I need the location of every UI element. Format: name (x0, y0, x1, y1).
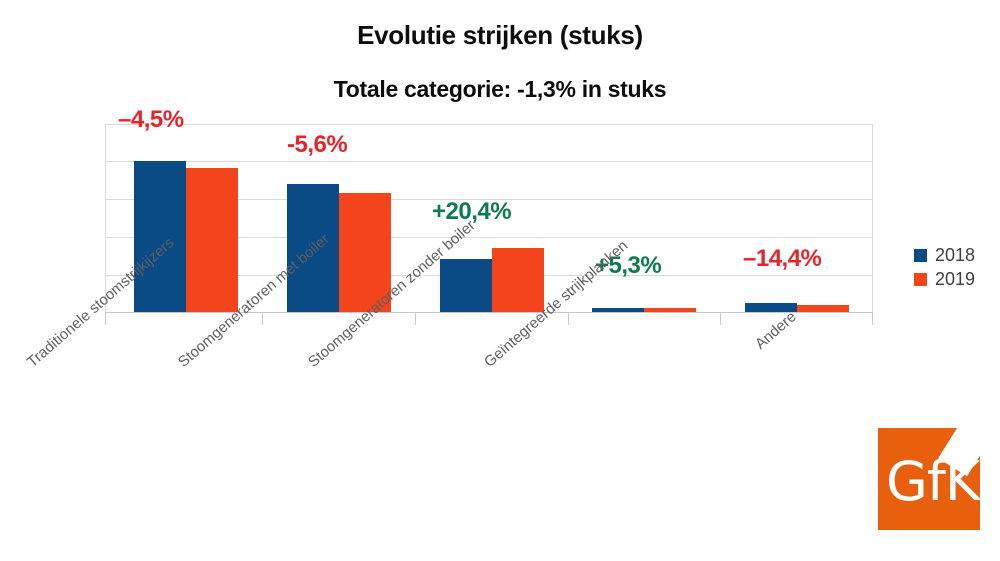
bar-2019[interactable] (644, 308, 696, 312)
legend-item-2018[interactable]: 2018 (914, 243, 975, 267)
legend-label-2018: 2018 (935, 245, 975, 266)
value-label-andere: –14,4% (743, 245, 821, 273)
x-axis-tick (262, 312, 263, 325)
legend-swatch-icon (914, 273, 927, 286)
x-axis-tick (872, 312, 873, 325)
legend: 2018 2019 (914, 243, 975, 291)
page-title: Evolutie strijken (stuks) (0, 20, 1000, 51)
x-axis-tick (720, 312, 721, 325)
x-axis-tick (568, 312, 569, 325)
bar-2019[interactable] (186, 168, 238, 312)
bar-2018[interactable] (440, 259, 492, 312)
legend-swatch-icon (914, 249, 927, 262)
bar-2018[interactable] (592, 308, 644, 312)
legend-item-2019[interactable]: 2019 (914, 267, 975, 291)
logo-text: GfK (886, 450, 979, 513)
bar-2018[interactable] (134, 161, 186, 312)
chart-subtitle: Totale categorie: -1,3% in stuks (0, 76, 1000, 103)
legend-label-2019: 2019 (935, 269, 975, 290)
gfk-logo: GfK (878, 428, 980, 530)
bar-2019[interactable] (797, 305, 849, 312)
x-axis-tick (415, 312, 416, 325)
x-axis-tick (105, 312, 106, 325)
value-label-stoomgeneratoren-met-boiler: -5,6% (287, 131, 347, 159)
x-axis-line (105, 312, 873, 313)
x-axis-label-4: Andere (752, 308, 800, 353)
bar-2019[interactable] (492, 248, 544, 312)
value-label-traditionele-stoomstrijkijzers: –4,5% (118, 106, 184, 134)
